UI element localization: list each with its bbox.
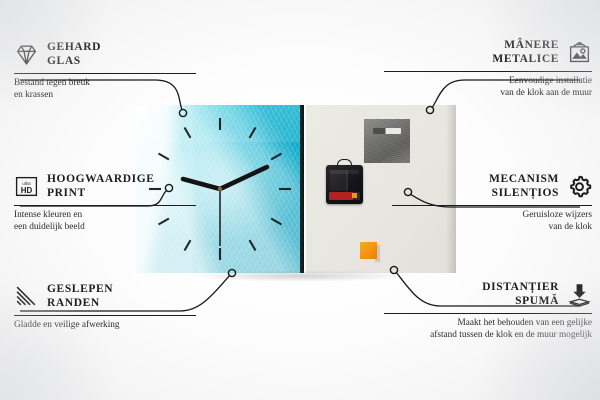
callout-title: DISTANȚIER SPUMĂ bbox=[482, 280, 559, 309]
callout-title: GESLEPEN RANDEN bbox=[47, 282, 113, 311]
callout-rule bbox=[384, 71, 592, 72]
gear-icon bbox=[567, 174, 592, 199]
callout-rule bbox=[384, 313, 592, 314]
callout-header: DISTANȚIER SPUMĂ bbox=[384, 280, 592, 309]
bevelled-edge-icon bbox=[14, 284, 39, 309]
callout-title: MÂNERE METALICE bbox=[492, 38, 559, 67]
callout-subtitle: Intense kleuren en een duidelijk beeld bbox=[14, 209, 214, 234]
callout-header: GEHARD GLAS bbox=[14, 40, 214, 69]
callout-foam-spacer: DISTANȚIER SPUMĂ Maakt het behouden van … bbox=[384, 280, 592, 342]
callout-subtitle: Gladde en veilige afwerking bbox=[14, 319, 214, 332]
svg-text:HD: HD bbox=[21, 186, 33, 195]
infographic-canvas: GEHARD GLAS Bestand tegen breuk en krass… bbox=[0, 0, 600, 400]
picture-hanger-icon bbox=[567, 40, 592, 65]
battery bbox=[329, 192, 360, 200]
callout-high-quality-print: ultra HD HOOGWAARDIGE PRINT Intense kleu… bbox=[14, 172, 214, 234]
callout-subtitle: Maakt het behouden van een gelijke afsta… bbox=[384, 317, 592, 342]
callout-header: MECANISM SILENȚIOS bbox=[392, 172, 592, 201]
foam-spacer-part bbox=[360, 242, 377, 259]
callout-header: MÂNERE METALICE bbox=[384, 38, 592, 67]
callout-rule bbox=[392, 205, 592, 206]
clock-mechanism-part bbox=[326, 165, 363, 204]
callout-header: ultra HD HOOGWAARDIGE PRINT bbox=[14, 172, 214, 201]
callout-subtitle: Bestand tegen breuk en krassen bbox=[14, 77, 214, 102]
clock-minute-hand bbox=[220, 167, 267, 189]
callout-rule bbox=[14, 315, 196, 316]
callout-silent-mechanism: MECANISM SILENȚIOS Geruisloze wijzers va… bbox=[392, 172, 592, 234]
callout-rule bbox=[14, 73, 196, 74]
callout-subtitle: Eenvoudige installatie van de klok aan d… bbox=[384, 75, 592, 100]
ultra-hd-icon: ultra HD bbox=[14, 174, 39, 199]
callout-header: GESLEPEN RANDEN bbox=[14, 282, 214, 311]
callout-subtitle: Geruisloze wijzers van de klok bbox=[392, 209, 592, 234]
hanger-slot bbox=[373, 128, 401, 134]
callout-title: GEHARD GLAS bbox=[47, 40, 101, 69]
foam-spacer-icon bbox=[567, 282, 592, 307]
callout-title: MECANISM SILENȚIOS bbox=[489, 172, 559, 201]
mechanism-hook bbox=[337, 159, 352, 167]
callout-ground-edges: GESLEPEN RANDEN Gladde en veilige afwerk… bbox=[14, 282, 214, 331]
callout-metal-handles: MÂNERE METALICE Eenvoudige installatie v… bbox=[384, 38, 592, 100]
callout-title: HOOGWAARDIGE PRINT bbox=[47, 172, 155, 201]
diamond-icon bbox=[14, 42, 39, 67]
clock-center-cap bbox=[218, 187, 223, 192]
metal-hanger-part bbox=[364, 119, 410, 163]
mechanism-detail bbox=[330, 170, 359, 191]
callout-tempered-glass: GEHARD GLAS Bestand tegen breuk en krass… bbox=[14, 40, 214, 102]
callout-rule bbox=[14, 205, 196, 206]
